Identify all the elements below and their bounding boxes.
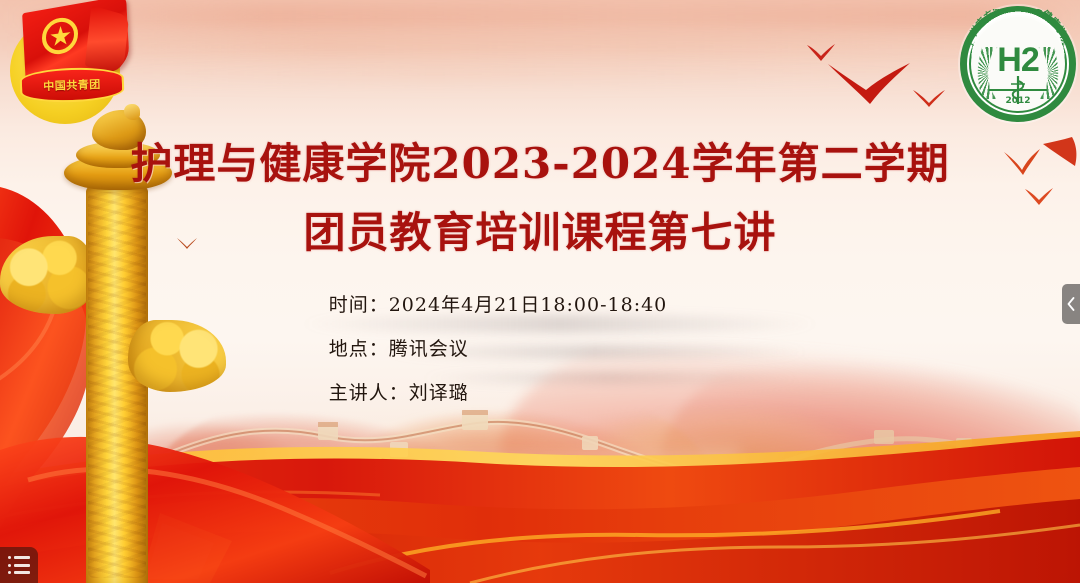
bird-icon	[1024, 186, 1054, 206]
list-menu-button[interactable]	[0, 547, 38, 583]
bird-icon	[176, 236, 198, 250]
emblem-year: 2012	[971, 96, 1065, 106]
collapse-sidebar-button[interactable]	[1062, 284, 1080, 324]
detail-time: 时间：2024年4月21日18:00-18:40	[329, 296, 668, 315]
detail-speaker: 主讲人：刘译璐	[329, 384, 668, 403]
emblem-baseline	[989, 89, 1047, 91]
chevron-left-icon	[1067, 297, 1075, 311]
bird-icon	[912, 88, 946, 108]
poster-detail-block: 时间：2024年4月21日18:00-18:40 地点：腾讯会议 主讲人：刘译璐	[0, 296, 1080, 404]
bird-icon	[1042, 136, 1080, 168]
poster-slide: 中国共青团 H2 2012 广州南方学院护理与健康学院	[0, 0, 1080, 583]
bird-icon	[826, 62, 912, 108]
detail-location: 地点：腾讯会议	[329, 340, 668, 359]
emblem-arc-svg: 广州南方学院护理与健康学院	[960, 9, 1076, 57]
sky-cloud-band	[0, 36, 1080, 58]
emblem-arc-text-wrap: 广州南方学院护理与健康学院	[960, 9, 1076, 53]
emblem-arc-text: 广州南方学院护理与健康学院	[964, 9, 1072, 47]
bird-icon	[1002, 148, 1042, 176]
list-menu-icon	[8, 556, 30, 574]
svg-text:广州南方学院护理与健康学院: 广州南方学院护理与健康学院	[964, 9, 1072, 47]
college-emblem: H2 2012 广州南方学院护理与健康学院	[960, 6, 1076, 122]
youth-league-emblem: 中国共青团	[4, 2, 132, 126]
bird-icon	[806, 42, 836, 62]
sky-cloud-band	[0, 66, 1080, 82]
sky-cloud-band	[0, 4, 1080, 30]
emblem-scroll-text: 中国共青团	[43, 76, 101, 94]
